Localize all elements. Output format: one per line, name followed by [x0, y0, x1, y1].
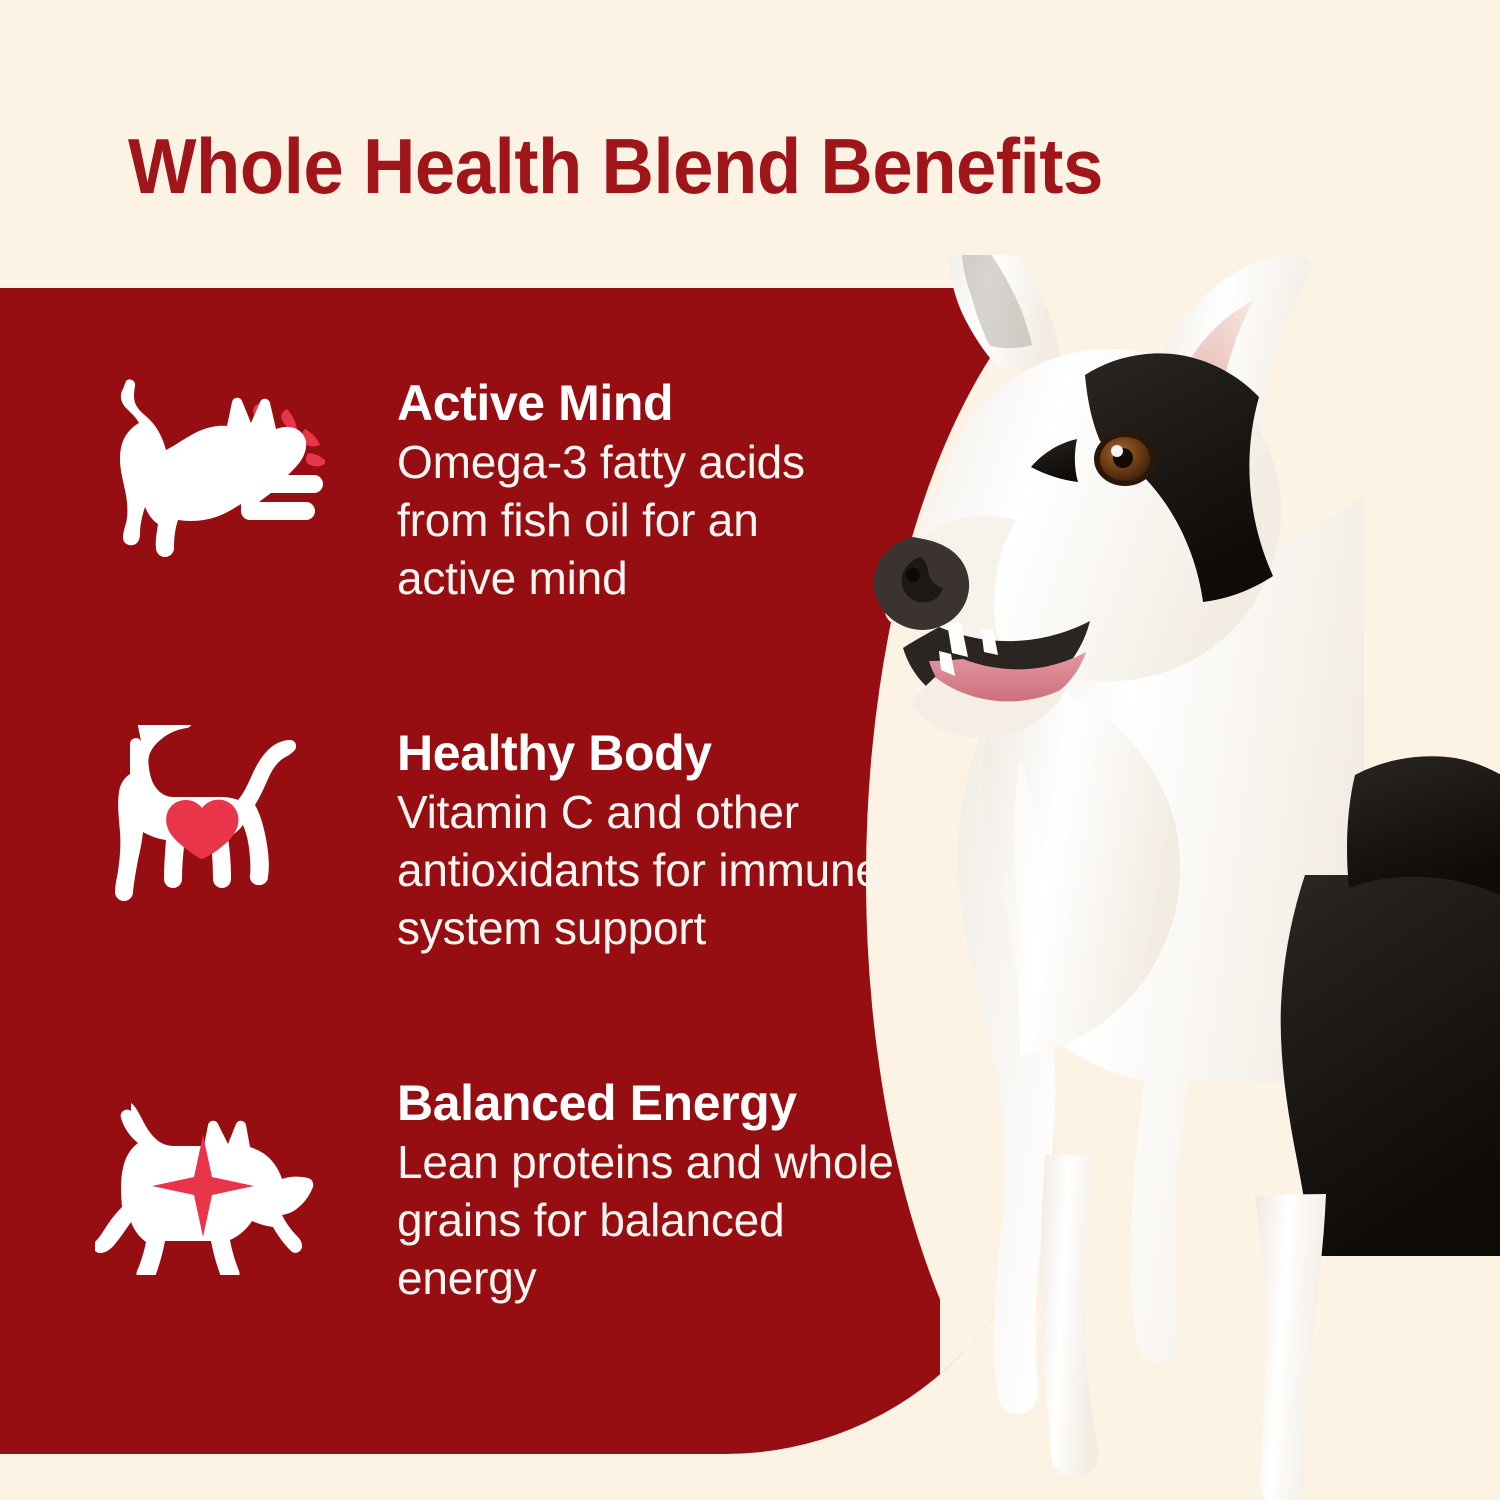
dog-play-bow-spark-icon [95, 375, 325, 575]
benefit-item-balanced-energy: Balanced Energy Lean proteins and whole … [95, 1075, 897, 1307]
benefit-text-healthy-body: Healthy Body Vitamin C and other antioxi… [325, 725, 1022, 957]
benefit-body: Lean proteins and whole grains for balan… [397, 1133, 897, 1307]
benefits-poster: Whole Health Blend Benefits Active Min [0, 0, 1500, 1500]
dog-standing-heart-icon [95, 725, 325, 925]
benefit-body: Vitamin C and other antioxidants for imm… [397, 783, 1022, 957]
benefit-text-active-mind: Active Mind Omega-3 fatty acids from fis… [325, 375, 867, 607]
dog-running-sparkle-icon [95, 1075, 325, 1275]
panel-bottom-right-scoop [940, 988, 1055, 1454]
page-title: Whole Health Blend Benefits [128, 120, 1291, 212]
benefit-heading: Active Mind [397, 375, 867, 431]
benefit-text-balanced-energy: Balanced Energy Lean proteins and whole … [325, 1075, 897, 1307]
benefit-heading: Balanced Energy [397, 1075, 897, 1131]
benefit-item-active-mind: Active Mind Omega-3 fatty acids from fis… [95, 375, 867, 607]
benefit-item-healthy-body: Healthy Body Vitamin C and other antioxi… [95, 725, 1022, 957]
benefit-heading: Healthy Body [397, 725, 1022, 781]
benefit-body: Omega-3 fatty acids from fish oil for an… [397, 433, 867, 607]
